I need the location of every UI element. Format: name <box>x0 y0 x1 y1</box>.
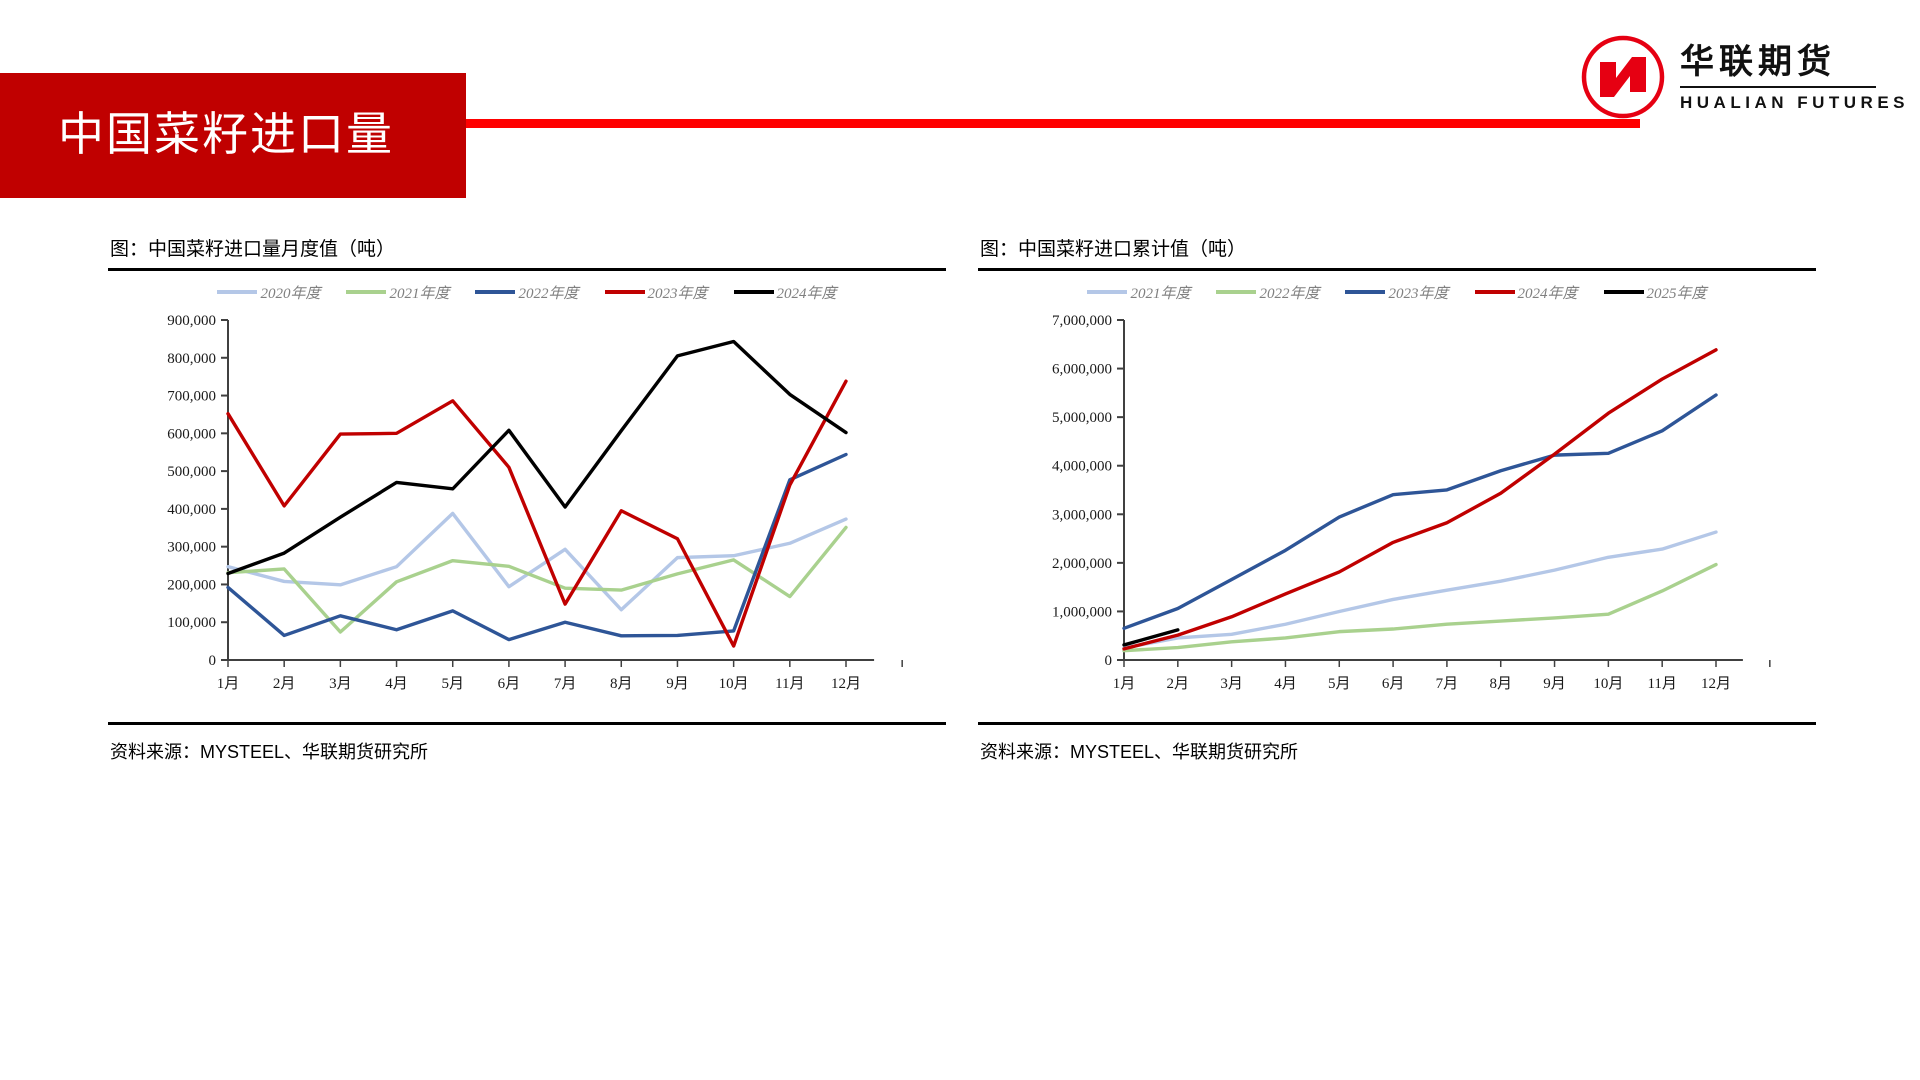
chart-legend-monthly: 2020年度2021年度2022年度2023年度2024年度 <box>108 278 946 306</box>
chart-panel-cumulative: 图：中国菜籽进口累计值（吨） 2021年度2022年度2023年度2024年度2… <box>978 236 1816 801</box>
x-axis-tick-label: 5月 <box>441 676 464 692</box>
y-axis-tick-label: 900,000 <box>167 313 216 329</box>
x-axis-tick-label: 5月 <box>1328 676 1351 692</box>
plot-area-cumulative: 01,000,0002,000,0003,000,0004,000,0005,0… <box>978 312 1816 712</box>
legend-label: 2023年度 <box>1388 282 1448 303</box>
chart-legend-cumulative: 2021年度2022年度2023年度2024年度2025年度 <box>978 278 1816 306</box>
chart-title-monthly: 图：中国菜籽进口量月度值（吨） <box>108 236 946 264</box>
logo-name-en: HUALIAN FUTURES <box>1680 93 1878 113</box>
x-axis-tick-label: 10月 <box>719 676 749 692</box>
panel-rule-bottom <box>978 722 1816 725</box>
y-axis-tick-label: 700,000 <box>167 389 216 405</box>
legend-label: 2021年度 <box>389 282 449 303</box>
panel-rule-bottom <box>108 722 946 725</box>
legend-label: 2022年度 <box>518 282 578 303</box>
x-axis-tick-label: 11月 <box>1647 676 1676 692</box>
hualian-n-monogram-icon <box>1580 34 1666 120</box>
series-line <box>1124 565 1716 651</box>
y-axis-tick-label: 400,000 <box>167 502 216 518</box>
x-axis-tick-label: 7月 <box>1436 676 1459 692</box>
legend-swatch-icon <box>217 290 257 294</box>
legend-label: 2023年度 <box>648 282 708 303</box>
y-axis-tick-label: 300,000 <box>167 540 216 556</box>
legend-swatch-icon <box>1604 290 1644 294</box>
y-axis-tick-label: 6,000,000 <box>1052 362 1112 378</box>
x-axis-tick-label: 12月 <box>831 676 861 692</box>
series-line <box>1124 350 1716 649</box>
legend-swatch-icon <box>1216 290 1256 294</box>
legend-item[interactable]: 2024年度 <box>734 282 837 303</box>
legend-item[interactable]: 2022年度 <box>1216 282 1319 303</box>
legend-item[interactable]: 2024年度 <box>1475 282 1578 303</box>
chart-title-cumulative: 图：中国菜籽进口累计值（吨） <box>978 236 1816 264</box>
y-axis-tick-label: 800,000 <box>167 351 216 367</box>
y-axis-tick-label: 2,000,000 <box>1052 556 1112 572</box>
legend-item[interactable]: 2025年度 <box>1604 282 1707 303</box>
legend-swatch-icon <box>1087 290 1127 294</box>
legend-label: 2024年度 <box>777 282 837 303</box>
legend-label: 2020年度 <box>260 282 320 303</box>
legend-swatch-icon <box>475 290 515 294</box>
legend-swatch-icon <box>605 290 645 294</box>
y-axis-tick-label: 500,000 <box>167 464 216 480</box>
chart-source-monthly: 资料来源：MYSTEEL、华联期货研究所 <box>110 738 428 764</box>
x-axis-tick-label: 1月 <box>1113 676 1136 692</box>
legend-swatch-icon <box>734 290 774 294</box>
y-axis-tick-label: 0 <box>209 653 217 669</box>
panel-rule-top <box>108 268 946 271</box>
x-axis-tick-label: 6月 <box>498 676 521 692</box>
x-axis-tick-label: 11月 <box>775 676 804 692</box>
x-axis-tick-label: 7月 <box>554 676 577 692</box>
y-axis-tick-label: 5,000,000 <box>1052 410 1112 426</box>
page-title: 中国菜籽进口量 <box>58 104 394 164</box>
x-axis-tick-label: 4月 <box>1274 676 1297 692</box>
x-axis-tick-label: 12月 <box>1701 676 1731 692</box>
y-axis-tick-label: 4,000,000 <box>1052 459 1112 475</box>
legend-item[interactable]: 2023年度 <box>1345 282 1448 303</box>
y-axis-tick-label: 600,000 <box>167 426 216 442</box>
legend-label: 2022年度 <box>1259 282 1319 303</box>
y-axis-tick-label: 7,000,000 <box>1052 313 1112 329</box>
x-axis-tick-label: 8月 <box>1489 676 1512 692</box>
x-axis-tick-label: 2月 <box>1167 676 1190 692</box>
chart-panel-monthly: 图：中国菜籽进口量月度值（吨） 2020年度2021年度2022年度2023年度… <box>108 236 946 801</box>
company-logo: 华联期货 HUALIAN FUTURES <box>1580 26 1880 126</box>
slide-header: 中国菜籽进口量 华联期货 HUALIAN FUTURES <box>0 0 1920 210</box>
legend-item[interactable]: 2021年度 <box>346 282 449 303</box>
legend-label: 2021年度 <box>1130 282 1190 303</box>
chart-source-cumulative: 资料来源：MYSTEEL、华联期货研究所 <box>980 738 1298 764</box>
legend-item[interactable]: 2021年度 <box>1087 282 1190 303</box>
x-axis-tick-label: 9月 <box>666 676 689 692</box>
y-axis-tick-label: 1,000,000 <box>1052 604 1112 620</box>
title-rule <box>466 119 1640 128</box>
x-axis-tick-label: 1月 <box>217 676 240 692</box>
x-axis-tick-label: 6月 <box>1382 676 1405 692</box>
y-axis-tick-label: 100,000 <box>167 615 216 631</box>
logo-wordmark: 华联期货 HUALIAN FUTURES <box>1680 42 1878 113</box>
legend-swatch-icon <box>346 290 386 294</box>
y-axis-tick-label: 0 <box>1105 653 1113 669</box>
panel-rule-top <box>978 268 1816 271</box>
x-axis-tick-label: 3月 <box>1220 676 1243 692</box>
logo-name-cn: 华联期货 <box>1680 42 1878 82</box>
y-axis-tick-label: 3,000,000 <box>1052 507 1112 523</box>
legend-swatch-icon <box>1345 290 1385 294</box>
legend-item[interactable]: 2022年度 <box>475 282 578 303</box>
legend-item[interactable]: 2023年度 <box>605 282 708 303</box>
legend-swatch-icon <box>1475 290 1515 294</box>
logo-divider <box>1680 86 1876 88</box>
plot-area-monthly: 0100,000200,000300,000400,000500,000600,… <box>108 312 946 712</box>
series-line <box>228 381 846 646</box>
legend-label: 2025年度 <box>1647 282 1707 303</box>
legend-item[interactable]: 2020年度 <box>217 282 320 303</box>
x-axis-tick-label: 3月 <box>329 676 352 692</box>
x-axis-tick-label: 10月 <box>1593 676 1623 692</box>
y-axis-tick-label: 200,000 <box>167 577 216 593</box>
x-axis-tick-label: 8月 <box>610 676 633 692</box>
legend-label: 2024年度 <box>1518 282 1578 303</box>
x-axis-tick-label: 2月 <box>273 676 296 692</box>
x-axis-tick-label: 9月 <box>1543 676 1566 692</box>
x-axis-tick-label: 4月 <box>385 676 408 692</box>
